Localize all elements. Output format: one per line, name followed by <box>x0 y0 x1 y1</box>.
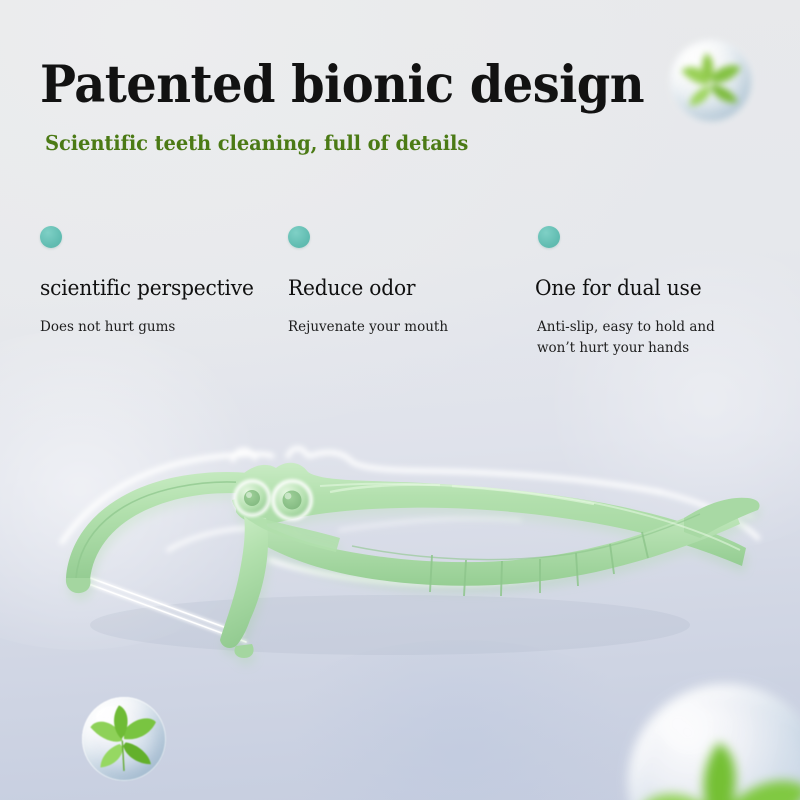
mint-leaf-bubble-icon <box>628 684 800 800</box>
teal-dot-icon <box>288 226 310 248</box>
product-eye-right <box>273 481 311 519</box>
feature-title: Reduce odor <box>288 276 518 301</box>
mint-leaves <box>628 684 800 800</box>
teal-dot-icon <box>40 226 62 248</box>
bubble-rim <box>628 684 800 800</box>
bubble-glass <box>82 697 166 781</box>
feature-subtitle: Rejuvenate your mouth <box>288 317 528 338</box>
feature-subtitle: Does not hurt gums <box>40 317 290 338</box>
mint-leaf-bubble-icon <box>82 697 166 781</box>
product-eye-left <box>235 481 269 515</box>
feature-title: One for dual use <box>535 276 748 301</box>
feature-item: Reduce odor Rejuvenate your mouth <box>288 226 528 338</box>
mint-leaves <box>82 697 166 781</box>
feature-item: scientific perspective Does not hurt gum… <box>40 226 290 338</box>
teal-dot-icon <box>538 226 560 248</box>
bubble-rim <box>82 697 166 781</box>
feature-subtitle: Anti-slip, easy to hold and won’t hurt y… <box>537 317 742 359</box>
product-image <box>0 420 800 700</box>
feature-list: scientific perspective Does not hurt gum… <box>0 0 800 400</box>
feature-item: One for dual use Anti-slip, easy to hold… <box>532 226 757 359</box>
bubble-glass <box>628 684 800 800</box>
promo-banner: Patented bionic design Scientific teeth … <box>0 0 800 800</box>
feature-title: scientific perspective <box>40 276 280 301</box>
